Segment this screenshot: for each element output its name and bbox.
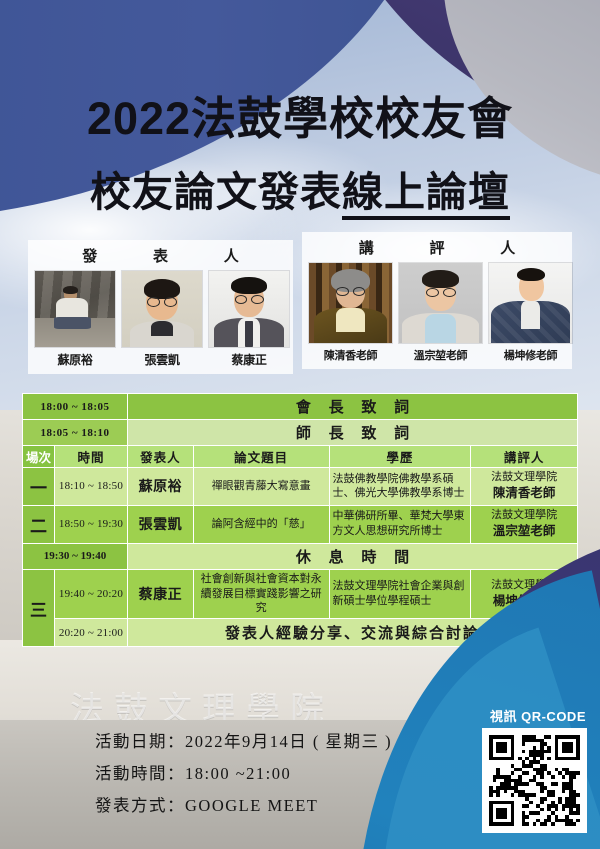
presenters-row: 蘇原裕 張雲凱 bbox=[34, 270, 287, 368]
table-row-session-2: 二 18:50 ~ 19:30 張雲凱 論阿含經中的「慈」 中華佛研所畢、華梵大… bbox=[23, 505, 578, 543]
commentator-org: 法鼓文理學院 bbox=[491, 509, 557, 521]
column-header-time: 時間 bbox=[54, 446, 127, 468]
session-education: 中華佛研所畢、華梵大學東方文人思想研究所博士 bbox=[329, 505, 471, 543]
session-time: 19:40 ~ 20:20 bbox=[54, 569, 127, 619]
poster-root: 法鼓文理學院 2022法鼓學校校友會 校友論文發表線上論壇 發 表 人 bbox=[0, 0, 600, 849]
commentator-name: 楊坤修老師 bbox=[488, 347, 573, 363]
table-row-session-3: 三 19:40 ~ 20:20 蔡康正 社會創新與社會資本對永續發展目標實踐影響… bbox=[23, 569, 578, 619]
commentator-card-1: 陳清香老師 bbox=[308, 262, 393, 363]
commentator-org: 法鼓文理學院 bbox=[491, 471, 557, 483]
event-time: 活動時間：18:00 ~21:00 bbox=[95, 758, 425, 790]
page-title: 2022法鼓學校校友會 bbox=[0, 82, 600, 147]
commentators-panel: 講 評 人 陳清香老師 bbox=[302, 232, 572, 369]
table-row-break: 19:30 ~ 19:40 休 息 時 間 bbox=[23, 543, 578, 569]
table-row-opening-1: 18:00 ~ 18:05 會 長 致 詞 bbox=[23, 394, 578, 420]
commentator-name: 溫宗堃老師 bbox=[398, 347, 483, 363]
session-presenter: 蘇原裕 bbox=[127, 468, 193, 506]
page-subtitle: 校友論文發表線上論壇 bbox=[0, 158, 600, 218]
photo-tsai-kang-cheng bbox=[208, 270, 290, 348]
break-label: 休 息 時 間 bbox=[127, 543, 577, 569]
commentator-card-2: 溫宗堃老師 bbox=[398, 262, 483, 363]
session-paper: 論阿含經中的「慈」 bbox=[193, 505, 329, 543]
column-header-paper: 論文題目 bbox=[193, 446, 329, 468]
opening-label-2: 師 長 致 詞 bbox=[127, 420, 577, 446]
session-presenter: 蔡康正 bbox=[127, 569, 193, 619]
column-header-commentator: 講評人 bbox=[471, 446, 578, 468]
commentator-card-3: 楊坤修老師 bbox=[488, 262, 573, 363]
commentator-person: 溫宗堃老師 bbox=[493, 524, 556, 538]
column-header-presenter: 發表人 bbox=[127, 446, 193, 468]
session-education: 法鼓佛教學院佛教學系碩士、佛光大學佛教學系博士 bbox=[329, 468, 471, 506]
commentators-row: 陳清香老師 溫宗堃老師 bbox=[308, 262, 566, 363]
schedule-table: 18:00 ~ 18:05 會 長 致 詞 18:05 ~ 18:10 師 長 … bbox=[22, 393, 578, 647]
commentator-name: 陳清香老師 bbox=[308, 347, 393, 363]
column-header-education: 學歷 bbox=[329, 446, 471, 468]
qr-code-pattern bbox=[489, 735, 580, 826]
presenters-panel: 發 表 人 蘇原裕 bbox=[28, 240, 293, 374]
presenter-card-1: 蘇原裕 bbox=[34, 270, 116, 368]
commentators-heading: 講 評 人 bbox=[308, 237, 566, 258]
session-paper: 社會創新與社會資本對永續發展目標實踐影響之研究 bbox=[193, 569, 329, 619]
session-time: 18:10 ~ 18:50 bbox=[54, 468, 127, 506]
qr-code-label: 視訊 QR-CODE bbox=[490, 706, 586, 725]
presenter-name: 蘇原裕 bbox=[34, 351, 116, 368]
session-commentator: 法鼓文理學院 溫宗堃老師 bbox=[471, 505, 578, 543]
presenter-name: 張雲凱 bbox=[121, 351, 203, 368]
break-time: 19:30 ~ 19:40 bbox=[23, 543, 128, 569]
closing-time: 20:20 ~ 21:00 bbox=[54, 619, 127, 647]
table-row-opening-2: 18:05 ~ 18:10 師 長 致 詞 bbox=[23, 420, 578, 446]
photo-wen-tsung-kun bbox=[398, 262, 483, 344]
session-paper: 禪眼觀青藤大寫意畫 bbox=[193, 468, 329, 506]
opening-label-1: 會 長 致 詞 bbox=[127, 394, 577, 420]
event-details: 活動日期：2022年9月14日 ( 星期三 ) 活動時間：18:00 ~21:0… bbox=[95, 726, 425, 823]
column-header-session: 場次 bbox=[23, 446, 55, 468]
presenter-name: 蔡康正 bbox=[208, 351, 290, 368]
opening-time-2: 18:05 ~ 18:10 bbox=[23, 420, 128, 446]
opening-time-1: 18:00 ~ 18:05 bbox=[23, 394, 128, 420]
presenter-card-3: 蔡康正 bbox=[208, 270, 290, 368]
session-number: 三 bbox=[23, 569, 55, 647]
qr-code[interactable] bbox=[482, 728, 587, 833]
photo-su-yuan-yu bbox=[34, 270, 116, 348]
presenters-heading: 發 表 人 bbox=[34, 245, 287, 266]
event-method: 發表方式：GOOGLE MEET bbox=[95, 790, 425, 822]
presenter-card-2: 張雲凱 bbox=[121, 270, 203, 368]
photo-chang-yun-kai bbox=[121, 270, 203, 348]
page-subtitle-plain: 校友論文發表 bbox=[90, 169, 342, 215]
table-header-row: 場次 時間 發表人 論文題目 學歷 講評人 bbox=[23, 446, 578, 468]
session-commentator: 法鼓文理學院 陳清香老師 bbox=[471, 468, 578, 506]
session-presenter: 張雲凱 bbox=[127, 505, 193, 543]
commentator-person: 陳清香老師 bbox=[493, 486, 556, 500]
photo-chen-ching-hsiang bbox=[308, 262, 393, 344]
event-date: 活動日期：2022年9月14日 ( 星期三 ) bbox=[95, 726, 425, 758]
session-number: 一 bbox=[23, 468, 55, 506]
table-row-session-1: 一 18:10 ~ 18:50 蘇原裕 禪眼觀青藤大寫意畫 法鼓佛教學院佛教學系… bbox=[23, 468, 578, 506]
page-subtitle-underlined: 線上論壇 bbox=[342, 169, 510, 220]
session-education: 法鼓文理學院社會企業與創新碩士學位學程碩士 bbox=[329, 569, 471, 619]
session-time: 18:50 ~ 19:30 bbox=[54, 505, 127, 543]
session-number: 二 bbox=[23, 505, 55, 543]
photo-yang-kun-hsiu bbox=[488, 262, 573, 344]
